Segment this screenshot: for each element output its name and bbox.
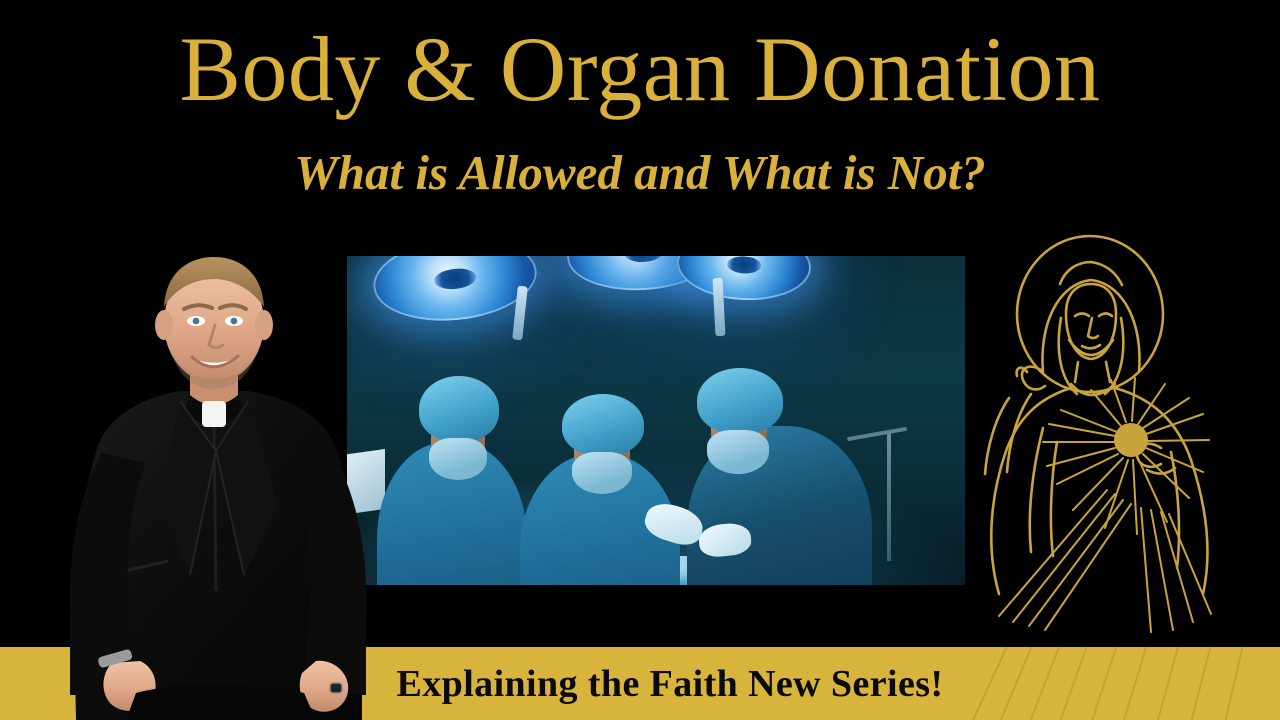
slide-canvas: Body & Organ Donation What is Allowed an… (0, 0, 1280, 720)
priest-presenter-photo (40, 255, 440, 720)
neck-left (1075, 362, 1078, 382)
robe-fold (1051, 442, 1057, 556)
surgical-mask-icon (572, 452, 632, 494)
sleeve-left-inner (1007, 394, 1031, 472)
mouth (1082, 345, 1100, 348)
ring (330, 683, 342, 693)
nose (1088, 318, 1098, 338)
priest-svg (40, 255, 440, 720)
ear-right (255, 310, 273, 340)
iv-pole (887, 431, 891, 561)
surgeon-cap-icon (697, 368, 783, 434)
surgeon-cap-icon (562, 394, 644, 456)
surgical-mask-icon (707, 430, 769, 474)
pupil-left (193, 318, 200, 325)
pupil-right (231, 318, 238, 325)
page-title: Body & Organ Donation (0, 18, 1280, 121)
ear-left (155, 310, 173, 340)
eye-left (1075, 314, 1089, 317)
robe-fold (1030, 428, 1043, 552)
roman-collar-icon (202, 401, 226, 427)
divine-mercy-svg (965, 222, 1280, 662)
sleeve-left-outer (985, 398, 1009, 474)
divine-mercy-line-art (965, 222, 1280, 662)
eye-right (1099, 314, 1112, 317)
neck-right (1106, 362, 1110, 382)
page-subtitle: What is Allowed and What is Not? (0, 145, 1280, 201)
